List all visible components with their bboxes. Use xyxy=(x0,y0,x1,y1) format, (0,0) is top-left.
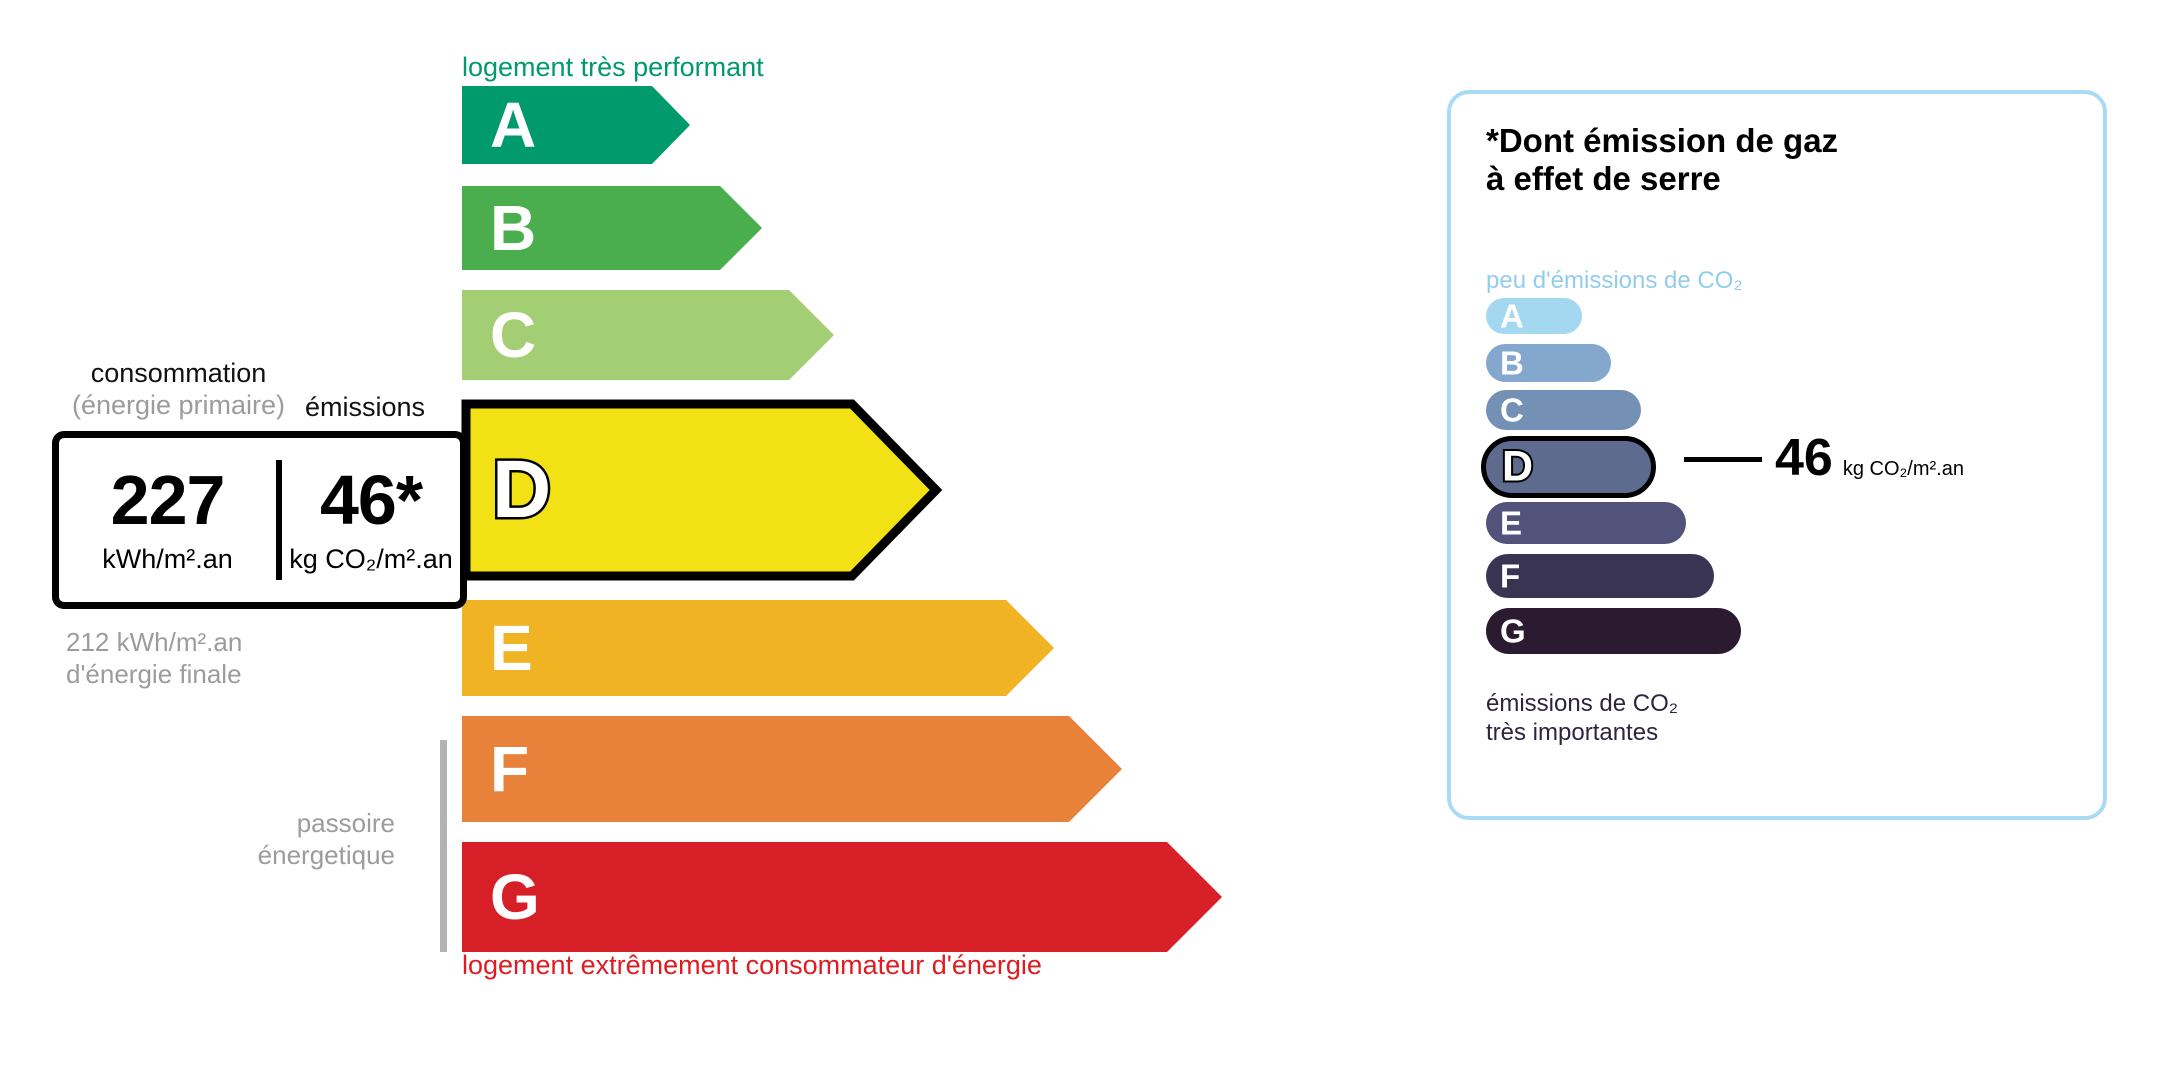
scale-bottom-caption: logement extrêmement consommateur d'éner… xyxy=(462,950,1042,981)
co2-band-f[interactable]: F xyxy=(1486,554,1714,598)
co2-callout: 46 kg CO₂/m².an xyxy=(1775,432,1964,484)
energy-band-c[interactable]: C xyxy=(462,290,834,380)
band-shape-e xyxy=(462,600,1054,696)
energy-performance-scale: logement très performant A B C xyxy=(0,0,1400,1079)
co2-title-line1: *Dont émission de gaz xyxy=(1486,122,1838,160)
energy-band-g[interactable]: G xyxy=(462,842,1222,952)
passoire-label: passoire énergetique xyxy=(210,808,395,871)
co2-band-g[interactable]: G xyxy=(1486,608,1741,654)
energy-band-e[interactable]: E xyxy=(462,600,1054,696)
co2-letter-e: E xyxy=(1500,507,1522,540)
consumption-label: consommation (énergie primaire) xyxy=(66,358,291,422)
band-letter-c: C xyxy=(490,303,536,367)
band-letter-d: D xyxy=(492,449,551,531)
co2-bottom-caption-line2: très importantes xyxy=(1486,719,1678,748)
consumption-label-sub: (énergie primaire) xyxy=(66,390,291,422)
band-letter-f: F xyxy=(490,737,529,801)
co2-band-b[interactable]: B xyxy=(1486,344,1611,382)
co2-callout-unit: kg CO₂/m².an xyxy=(1843,458,1964,481)
co2-letter-b: B xyxy=(1500,347,1524,380)
band-shape-f xyxy=(462,716,1122,822)
passoire-bracket xyxy=(440,740,447,952)
co2-letter-f: F xyxy=(1500,560,1520,593)
co2-letter-d: D xyxy=(1502,446,1533,489)
band-letter-a: A xyxy=(490,93,536,157)
co2-letter-a: A xyxy=(1500,300,1524,333)
passoire-line1: passoire xyxy=(210,808,395,840)
co2-band-c[interactable]: C xyxy=(1486,390,1641,430)
co2-band-a[interactable]: A xyxy=(1486,298,1582,334)
final-energy-note: 212 kWh/m².an d'énergie finale xyxy=(66,627,242,690)
co2-callout-value: 46 xyxy=(1775,432,1833,484)
band-letter-b: B xyxy=(490,196,536,260)
energy-band-b[interactable]: B xyxy=(462,186,762,270)
band-arrow-e xyxy=(462,600,1054,696)
energy-band-d-selected[interactable]: D xyxy=(462,400,940,580)
consumption-unit: kWh/m².an xyxy=(102,544,233,575)
co2-bottom-caption: émissions de CO₂ très importantes xyxy=(1486,690,1678,748)
passoire-line2: énergetique xyxy=(210,840,395,872)
emissions-value-cell: 46* kg CO₂/m².an xyxy=(282,438,460,602)
co2-bottom-caption-line1: émissions de CO₂ xyxy=(1486,690,1678,719)
co2-band-d-selected[interactable]: D xyxy=(1481,436,1656,498)
final-energy-line2: d'énergie finale xyxy=(66,659,242,691)
co2-letter-c: C xyxy=(1500,394,1524,427)
energy-band-f[interactable]: F xyxy=(462,716,1122,822)
co2-band-e[interactable]: E xyxy=(1486,502,1686,544)
band-arrow-f xyxy=(462,716,1122,822)
band-arrow-g xyxy=(462,842,1222,952)
band-letter-g: G xyxy=(490,865,540,929)
co2-letter-g: G xyxy=(1500,615,1526,648)
emissions-unit: kg CO₂/m².an xyxy=(289,544,453,575)
emissions-value: 46* xyxy=(320,465,422,535)
band-shape-g xyxy=(462,842,1222,952)
co2-panel-title: *Dont émission de gaz à effet de serre xyxy=(1486,122,1838,197)
emissions-label: émissions xyxy=(305,392,425,423)
co2-top-caption: peu d'émissions de CO₂ xyxy=(1486,267,1743,295)
consumption-value: 227 xyxy=(111,465,225,535)
value-box: 227 kWh/m².an 46* kg CO₂/m².an xyxy=(52,431,467,609)
energy-band-a[interactable]: A xyxy=(462,86,690,164)
final-energy-line1: 212 kWh/m².an xyxy=(66,627,242,659)
consumption-value-cell: 227 kWh/m².an xyxy=(59,438,276,602)
co2-title-line2: à effet de serre xyxy=(1486,160,1838,198)
co2-callout-leader-line xyxy=(1684,457,1762,462)
consumption-label-main: consommation xyxy=(91,358,267,388)
band-letter-e: E xyxy=(490,616,533,680)
scale-top-caption: logement très performant xyxy=(462,52,764,83)
